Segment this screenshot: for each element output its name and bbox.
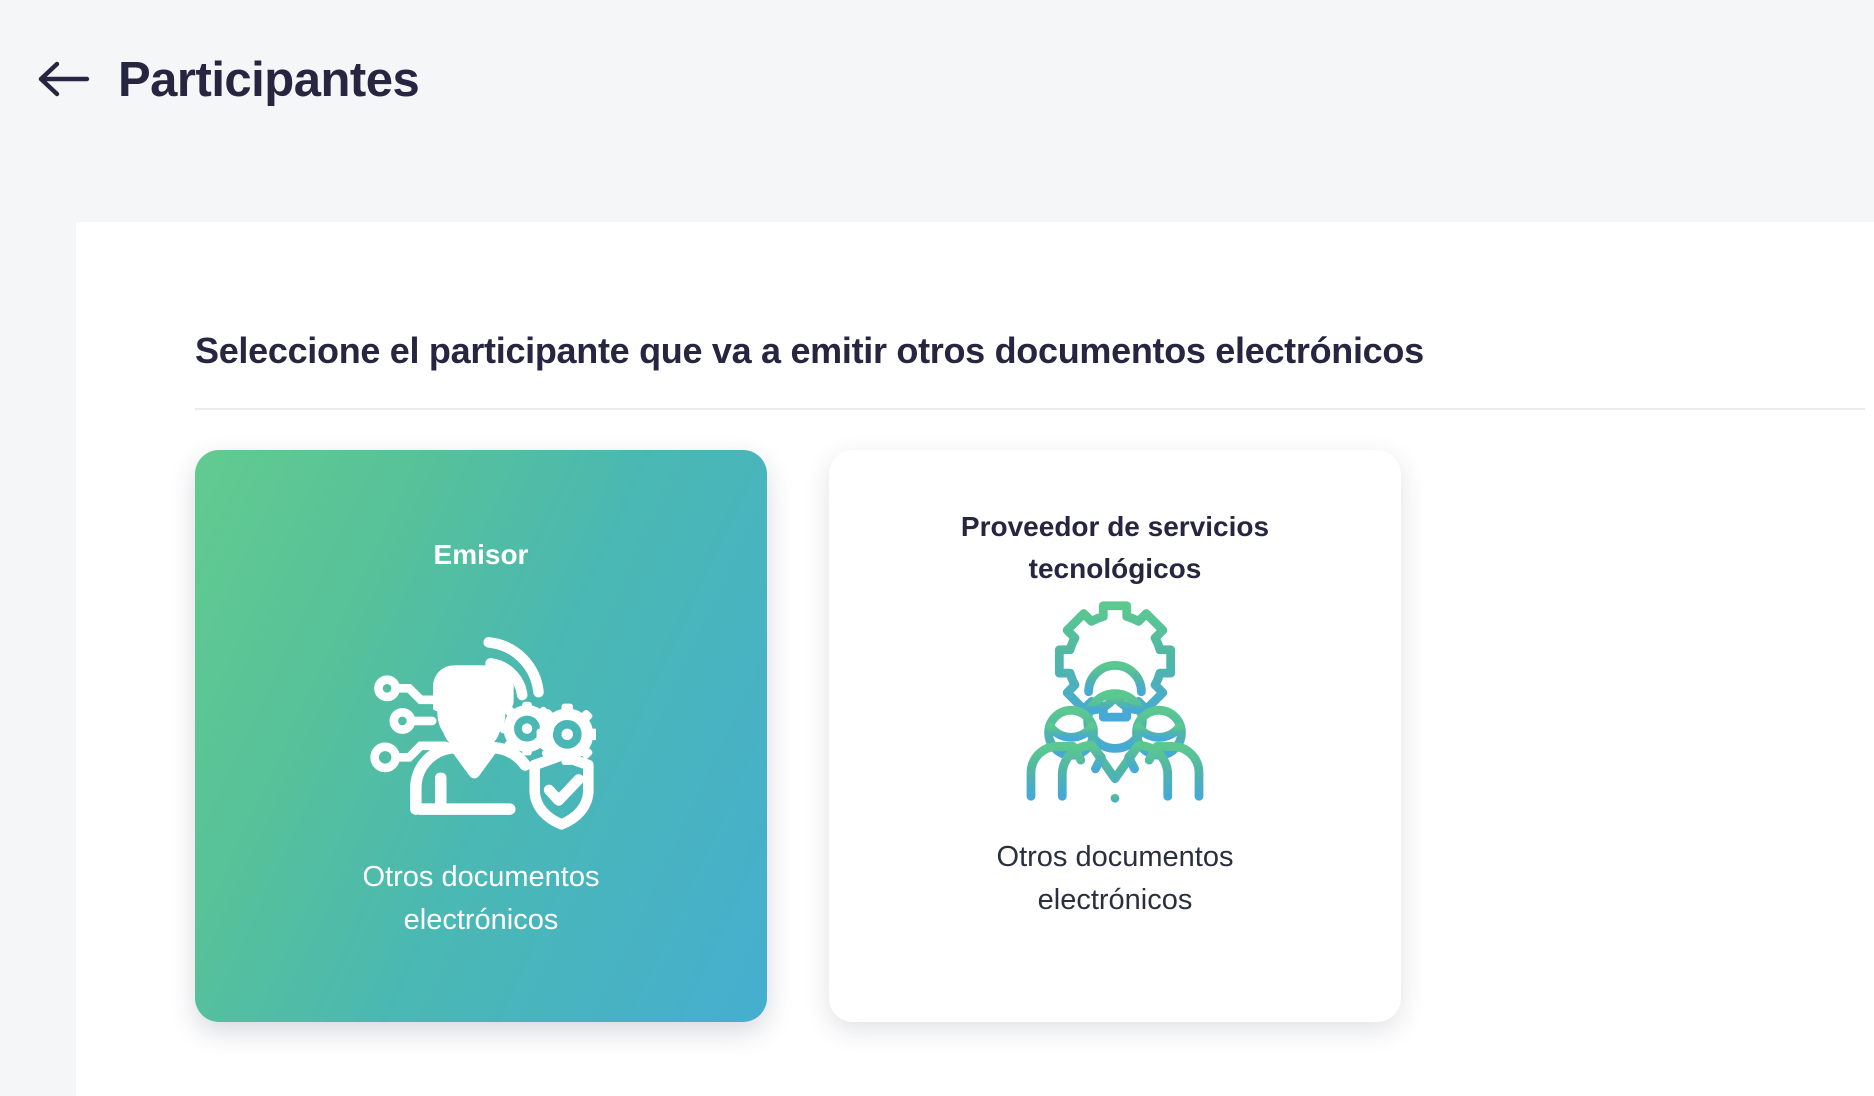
back-arrow-icon[interactable] bbox=[34, 48, 96, 110]
page-title: Participantes bbox=[118, 56, 419, 105]
team-gear-icon bbox=[1015, 596, 1215, 806]
participant-card-proveedor-servicios-tecnologicos[interactable]: Proveedor de servicios tecnológicos bbox=[829, 450, 1401, 1022]
panel-heading: Seleccione el participante que va a emit… bbox=[195, 330, 1424, 372]
heading-divider bbox=[195, 408, 1865, 410]
participant-cards: Emisor bbox=[195, 450, 1401, 1022]
content-panel: Seleccione el participante que va a emit… bbox=[76, 222, 1874, 1096]
card-caption: Otros documentos electrónicos bbox=[950, 836, 1280, 922]
card-caption: Otros documentos electrónicos bbox=[316, 856, 646, 942]
card-title: Proveedor de servicios tecnológicos bbox=[905, 506, 1325, 590]
participant-card-emisor[interactable]: Emisor bbox=[195, 450, 767, 1022]
card-title: Emisor bbox=[271, 534, 691, 576]
person-network-security-icon bbox=[366, 604, 596, 834]
page-header: Participantes bbox=[0, 0, 1874, 222]
